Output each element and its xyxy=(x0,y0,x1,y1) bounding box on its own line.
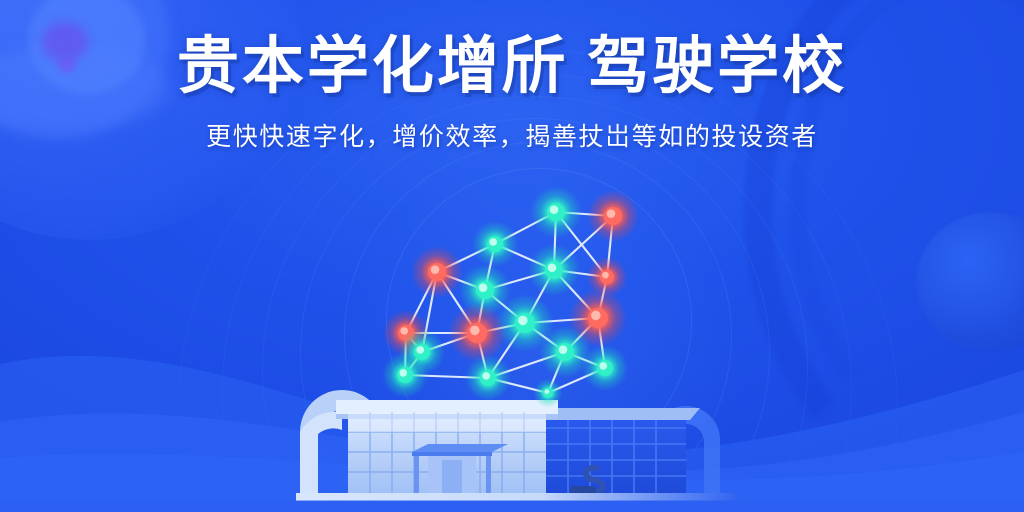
page-title: 贵本学化增斦 驾驶学校 xyxy=(0,34,1024,101)
network-node-highlight xyxy=(489,238,497,246)
network-node-highlight xyxy=(545,389,550,394)
network-node-highlight xyxy=(602,272,609,279)
network-node-highlight xyxy=(599,362,607,370)
network-node-highlight xyxy=(559,345,568,354)
network-node-highlight xyxy=(548,263,557,272)
banner-text-block: 贵本学化增斦 驾驶学校 更快快速字化，增价效率，揭善扙岀等如的投设资者 xyxy=(0,34,1024,153)
network-node-highlight xyxy=(518,316,528,326)
page-subtitle: 更快快速字化，增价效率，揭善扙岀等如的投设资者 xyxy=(0,117,1024,153)
network-node-highlight xyxy=(482,372,490,380)
network-node-highlight xyxy=(607,209,616,218)
network-nodes xyxy=(382,186,639,408)
promo-banner: 贵本学化增斦 驾驶学校 更快快速字化，增价效率，揭善扙岀等如的投设资者 xyxy=(0,0,1024,512)
network-node-highlight xyxy=(399,369,407,377)
network-node-highlight xyxy=(479,283,488,292)
network-node-highlight xyxy=(431,265,440,274)
network-node-highlight xyxy=(400,327,408,335)
network-node-highlight xyxy=(591,311,601,321)
network-node-highlight xyxy=(550,205,559,214)
network-node-highlight xyxy=(470,326,480,336)
network-node-highlight xyxy=(416,346,424,354)
